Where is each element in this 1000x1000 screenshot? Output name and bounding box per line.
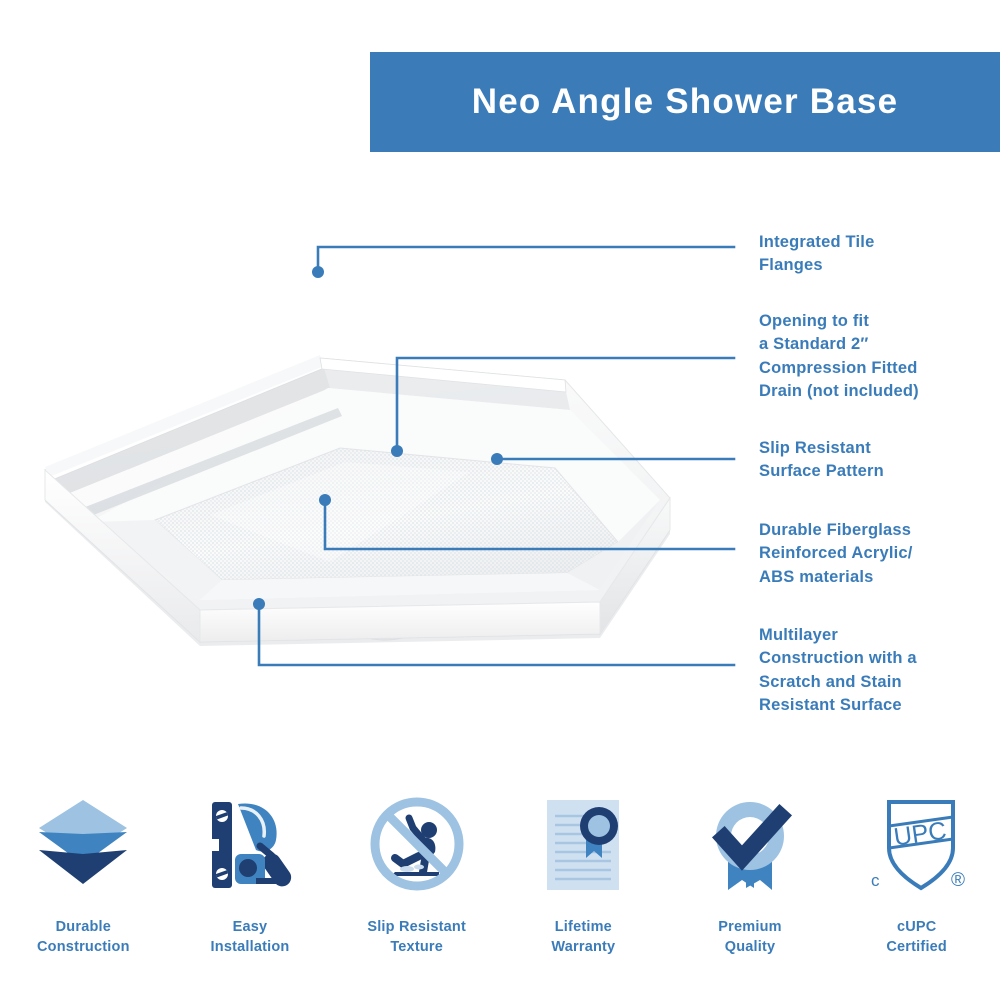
callout-multilayer-construction: Multilayer Construction with a Scratch a… <box>759 624 1000 718</box>
feature-label-line: Lifetime <box>551 918 615 938</box>
feature-label-line: Quality <box>718 938 781 958</box>
callout-line: a Standard 2″ <box>759 333 1000 356</box>
stacked-layers-icon <box>27 788 139 900</box>
page-title: Neo Angle Shower Base <box>472 82 899 122</box>
dot-multilayer-construction <box>253 598 265 610</box>
dot-integrated-tile-flanges <box>312 266 324 278</box>
no-slip-warning-icon <box>361 788 473 900</box>
feature-label: Slip Resistant Texture <box>367 918 466 957</box>
feature-label-line: Warranty <box>551 938 615 958</box>
callout-integrated-tile-flanges: Integrated Tile Flanges <box>759 231 1000 278</box>
quality-ribbon-check-icon <box>694 788 806 900</box>
callout-line: Slip Resistant <box>759 437 1000 460</box>
callout-line: Scratch and Stain <box>759 671 1000 694</box>
leader-integrated-tile-flanges <box>318 247 734 272</box>
feature-easy-installation: Easy Installation <box>167 770 334 957</box>
feature-strip: Durable Construction <box>0 770 1000 1000</box>
dot-drain-opening <box>391 445 403 457</box>
feature-label-line: Durable <box>37 918 130 938</box>
callout-line: Flanges <box>759 254 1000 277</box>
feature-durable-construction: Durable Construction <box>0 770 167 957</box>
title-banner: Neo Angle Shower Base <box>370 52 1000 152</box>
callout-line: Reinforced Acrylic/ <box>759 542 1000 565</box>
callout-durable-materials: Durable Fiberglass Reinforced Acrylic/ A… <box>759 519 1000 589</box>
level-trowel-tools-icon <box>194 788 306 900</box>
feature-label: Durable Construction <box>37 918 130 957</box>
feature-label-line: Certified <box>886 938 947 958</box>
feature-label-line: Slip Resistant <box>367 918 466 938</box>
feature-label: Easy Installation <box>211 918 290 957</box>
callout-line: Multilayer <box>759 624 1000 647</box>
feature-label-line: Easy <box>211 918 290 938</box>
dot-slip-resistant-surface <box>491 453 503 465</box>
callout-line: Construction with a <box>759 647 1000 670</box>
feature-premium-quality: Premium Quality <box>667 770 834 957</box>
callout-line: Opening to fit <box>759 310 1000 333</box>
callout-slip-resistant-surface: Slip Resistant Surface Pattern <box>759 437 1000 484</box>
feature-cupc-certified: UPC c ® cUPC Certified <box>833 770 1000 957</box>
feature-label-line: Construction <box>37 938 130 958</box>
feature-label: Lifetime Warranty <box>551 918 615 957</box>
dot-durable-materials <box>319 494 331 506</box>
feature-label-line: Texture <box>367 938 466 958</box>
callout-line: ABS materials <box>759 566 1000 589</box>
feature-label-line: Installation <box>211 938 290 958</box>
callout-line: Durable Fiberglass <box>759 519 1000 542</box>
feature-label: cUPC Certified <box>886 918 947 957</box>
callout-line: Drain (not included) <box>759 380 1000 403</box>
callout-line: Surface Pattern <box>759 460 1000 483</box>
cupc-prefix-text: c <box>871 871 880 890</box>
feature-label: Premium Quality <box>718 918 781 957</box>
feature-slip-resistant-texture: Slip Resistant Texture <box>333 770 500 957</box>
feature-label-line: cUPC <box>886 918 947 938</box>
warranty-certificate-icon <box>527 788 639 900</box>
cupc-shield-icon: UPC c ® <box>861 788 973 900</box>
cupc-registered-mark: ® <box>951 870 965 891</box>
feature-lifetime-warranty: Lifetime Warranty <box>500 770 667 957</box>
cupc-shield-text: UPC <box>892 817 948 852</box>
callout-line: Compression Fitted <box>759 357 1000 380</box>
callout-line: Integrated Tile <box>759 231 1000 254</box>
feature-label-line: Premium <box>718 918 781 938</box>
callout-line: Resistant Surface <box>759 694 1000 717</box>
callout-drain-opening: Opening to fit a Standard 2″ Compression… <box>759 310 1000 404</box>
